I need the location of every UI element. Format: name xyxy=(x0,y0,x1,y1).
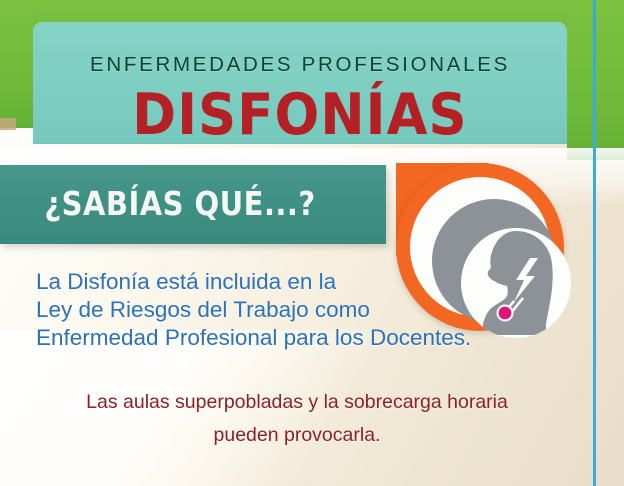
blue-line-2: Ley de Riesgos del Trabajo como xyxy=(36,296,556,324)
left-green-block xyxy=(0,0,34,128)
kicker-text: ENFERMEDADES PROFESIONALES xyxy=(33,53,567,77)
sabias-que-banner: ¿SABÍAS QUÉ...? xyxy=(0,165,386,244)
blue-line-1: La Disfonía está incluida en la xyxy=(36,268,556,296)
sabias-que-label: ¿SABÍAS QUÉ...? xyxy=(22,181,339,227)
red-line-1: Las aulas superpobladas y la sobrecarga … xyxy=(0,386,594,419)
red-line-2: pueden provocarla. xyxy=(0,419,594,452)
left-tan-strip xyxy=(0,118,16,130)
right-blue-rule-top xyxy=(593,0,596,41)
poster-canvas: ENFERMEDADES PROFESIONALES DISFONÍAS ¿SA… xyxy=(0,0,624,486)
right-blue-rule xyxy=(593,0,596,486)
blue-line-3: Enfermedad Profesional para los Docentes… xyxy=(36,324,556,352)
aqua-headline-panel: ENFERMEDADES PROFESIONALES DISFONÍAS xyxy=(33,22,567,144)
blue-body-text: La Disfonía está incluida en la Ley de R… xyxy=(36,268,556,352)
red-body-text: Las aulas superpobladas y la sobrecarga … xyxy=(0,386,594,452)
page-title: DISFONÍAS xyxy=(54,84,545,146)
